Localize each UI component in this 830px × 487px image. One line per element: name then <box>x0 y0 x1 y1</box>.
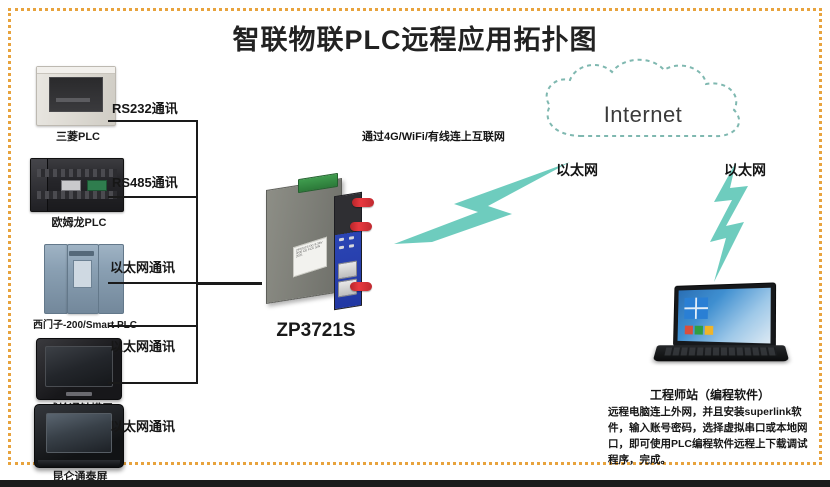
gateway-device: ZP3721S DC 9-36V IP30 CE FCC S/N 2021 ZP… <box>250 170 410 360</box>
plc-terminal-row-top <box>37 169 117 177</box>
mitsubishi-plc-icon <box>36 66 116 126</box>
gateway-model-label: ZP3721S <box>236 320 396 342</box>
plc-green-connector <box>87 180 107 191</box>
link-line-siemens <box>108 282 198 284</box>
laptop-screen <box>678 288 771 344</box>
hmi-screen <box>46 413 112 453</box>
eth-label-left: 以太网 <box>556 160 598 180</box>
plc-display-window <box>49 77 103 112</box>
engineer-laptop <box>655 284 795 376</box>
link-line-mitsubishi <box>108 120 198 122</box>
link-line-kunlun <box>108 325 198 327</box>
link-line-weinview <box>108 382 198 384</box>
gateway-rj45-port-1 <box>338 260 357 279</box>
device-label-siemens: 西门子-200/Smart PLC <box>20 316 150 331</box>
link-label-ethernet-siemens: 以太网通讯 <box>110 257 175 276</box>
plc-cpu-module <box>31 159 48 211</box>
hmi-screen <box>45 346 113 387</box>
kunlun-hmi-icon <box>34 404 124 468</box>
laptop-keyboard <box>664 348 777 356</box>
gateway-spec-sticker: ZP3721S DC 9-36V IP30 CE FCC S/N 2021 <box>293 237 327 278</box>
plc-top-lip <box>37 67 115 74</box>
link-line-omron <box>108 196 198 198</box>
link-label-rs485: RS485通讯 <box>112 172 178 191</box>
plc-io-module <box>98 244 124 314</box>
internet-cloud: Internet <box>524 58 762 158</box>
device-label-omron: 欧姆龙PLC <box>24 214 134 230</box>
plc-lcd-panel <box>73 260 92 288</box>
device-label-mitsubishi: 三菱PLC <box>28 128 128 144</box>
gateway-antenna-3 <box>350 282 372 291</box>
laptop-keyboard-base <box>653 345 790 361</box>
siemens-logo <box>69 251 94 256</box>
gateway-antenna-2 <box>350 222 372 231</box>
desktop-tiles <box>685 326 714 335</box>
lightning-bolt-left <box>392 158 572 248</box>
link-label-ethernet-kunlun: 以太网通讯 <box>110 416 175 435</box>
siemens-plc-icon <box>42 244 124 312</box>
gateway-antenna-1 <box>352 198 374 207</box>
cloud-label: Internet <box>524 102 762 128</box>
gateway-led-4 <box>349 244 354 248</box>
hmi-bezel-base <box>38 460 120 467</box>
bus-vertical-line <box>196 121 198 383</box>
station-title: 工程师站（编程软件） <box>600 386 820 403</box>
gateway-led-1 <box>339 238 344 242</box>
plc-terminal-row-bottom <box>37 191 117 199</box>
station-description: 远程电脑连上外网，并且安装superlink软件，输入账号密码，选择虚拟串口或本… <box>608 404 816 468</box>
gateway-led-3 <box>349 236 354 240</box>
plc-serial-port <box>61 180 81 191</box>
eth-label-right: 以太网 <box>724 160 766 180</box>
windows-logo-icon <box>684 297 708 319</box>
hmi-brand-mark <box>66 392 92 396</box>
industrial-gateway-icon: ZP3721S DC 9-36V IP30 CE FCC S/N 2021 <box>266 178 342 304</box>
gateway-led-2 <box>339 246 344 250</box>
page-title: 智联物联PLC远程应用拓扑图 <box>0 18 830 57</box>
internet-connection-note: 通过4G/WiFi/有线连上互联网 <box>362 128 505 144</box>
topology-diagram: 智联物联PLC远程应用拓扑图 三菱PLC 欧姆龙PLC 西门子-200/Smar… <box>0 0 830 487</box>
omron-plc-icon <box>30 158 124 212</box>
link-label-ethernet-weinview: 以太网通讯 <box>110 336 175 355</box>
laptop-icon <box>673 282 776 350</box>
plc-power-module <box>44 244 68 314</box>
bottom-bar <box>0 480 830 487</box>
link-label-rs232: RS232通讯 <box>112 98 178 117</box>
